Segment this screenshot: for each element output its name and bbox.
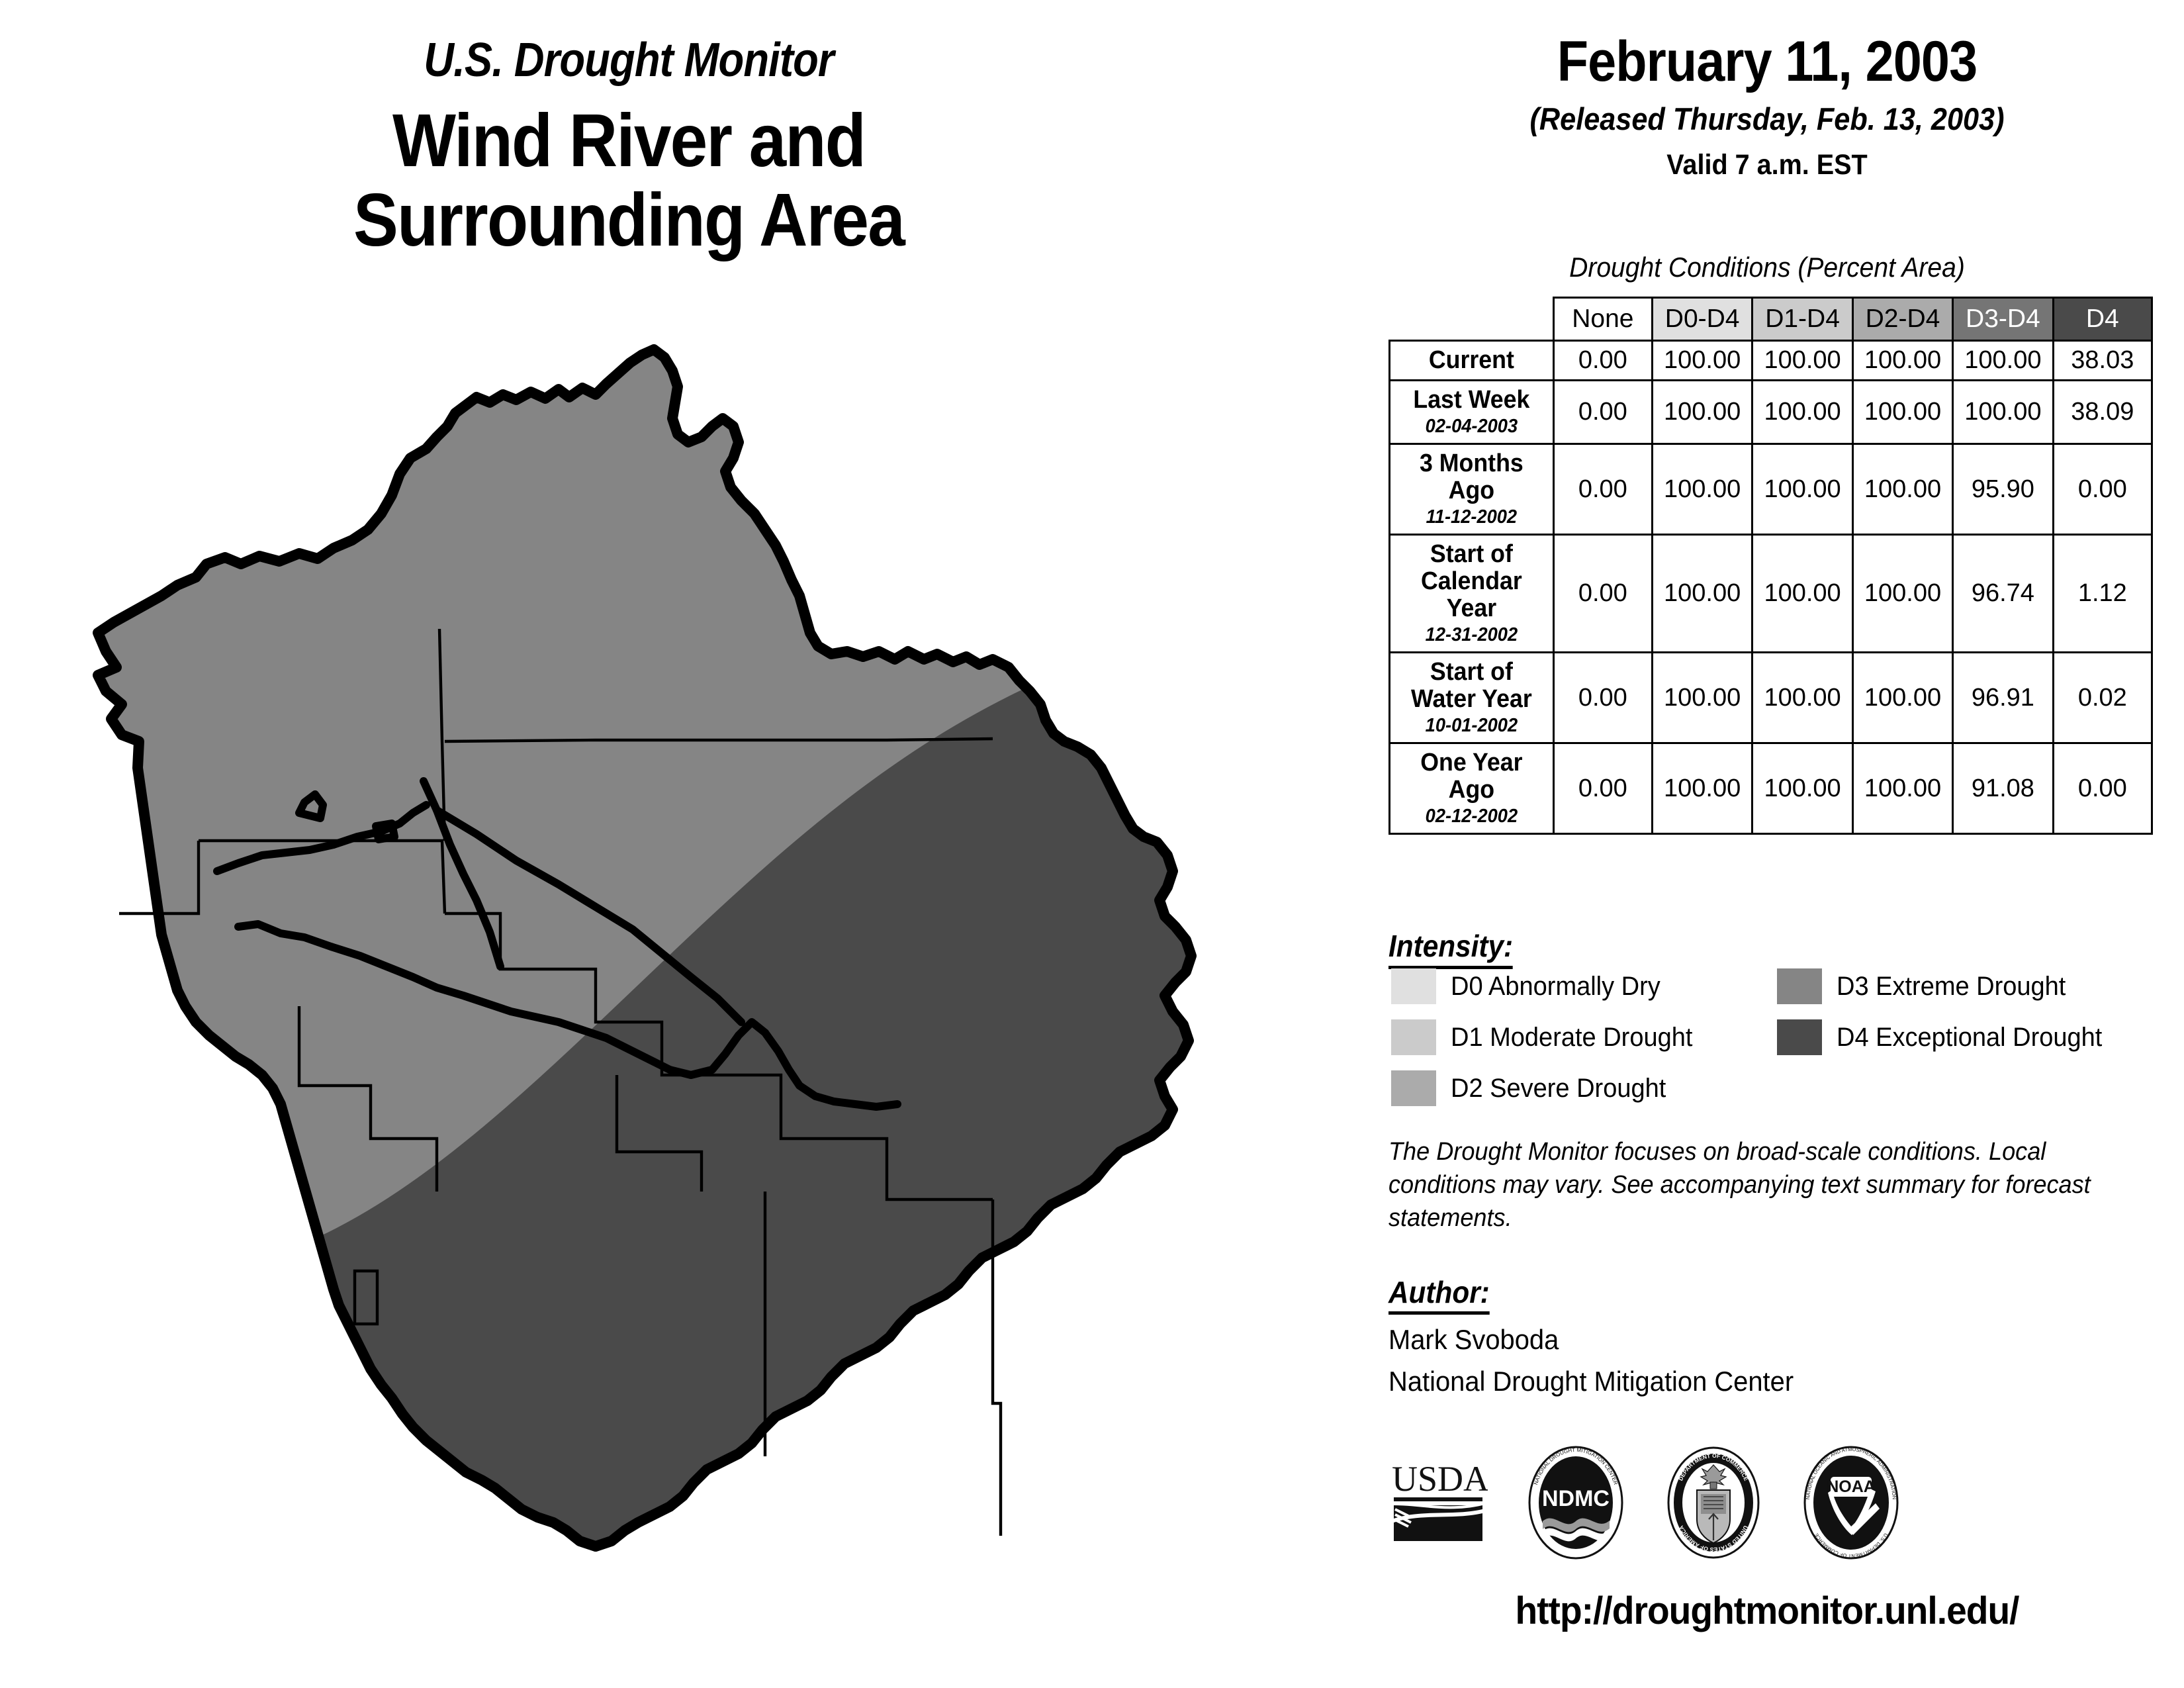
table-corner-cell (1390, 298, 1554, 341)
legend-item-d3: D3 Extreme Drought (1777, 968, 2078, 1004)
row-label: One Year Ago (1398, 749, 1545, 804)
date-block: February 11, 2003 (Released Thursday, Fe… (1350, 33, 2184, 181)
table-cell-none: 0.00 (1553, 653, 1652, 743)
table-cell-d1-d4: 100.00 (1752, 341, 1852, 381)
row-date: 10-01-2002 (1398, 715, 1545, 737)
svg-text:NDMC: NDMC (1542, 1486, 1610, 1511)
drought-map[interactable] (40, 344, 1337, 1655)
department-of-commerce-seal: DEPARTMENT OF COMMERCE UNITED STATES OF … (1664, 1445, 1763, 1561)
author-organization: National Drought Mitigation Center (1388, 1366, 1794, 1397)
legend-swatch-d1 (1391, 1019, 1436, 1055)
table-cell-d4: 0.02 (2053, 653, 2152, 743)
table-cell-d4: 0.00 (2053, 743, 2152, 834)
table-cell-d2-d4: 100.00 (1852, 341, 1952, 381)
table-cell-d1-d4: 100.00 (1752, 381, 1852, 444)
table-cell-none: 0.00 (1553, 381, 1652, 444)
svg-text:USDA: USDA (1392, 1459, 1488, 1499)
table-cell-d3-d4: 100.00 (1953, 341, 2053, 381)
valid-time: Valid 7 a.m. EST (1383, 149, 2150, 181)
table-cell-d2-d4: 100.00 (1852, 653, 1952, 743)
table-cell-d4: 38.03 (2053, 341, 2152, 381)
noaa-logo: NOAA NATIONAL OCEANIC AND ATMOSPHERIC AD… (1801, 1445, 1901, 1561)
page-title-line2: Surrounding Area (63, 181, 1195, 260)
table-cell-d2-d4: 100.00 (1852, 743, 1952, 834)
table-row: One Year Ago02-12-20020.00100.00100.0010… (1390, 743, 2152, 834)
row-date: 12-31-2002 (1398, 624, 1545, 646)
legend-item-d2: D2 Severe Drought (1391, 1070, 1677, 1106)
table-cell-d4: 38.09 (2053, 381, 2152, 444)
row-date: 11-12-2002 (1398, 506, 1545, 528)
column-header-none: None (1553, 298, 1652, 341)
disclaimer-text: The Drought Monitor focuses on broad-sca… (1388, 1135, 2118, 1235)
page-title: Wind River and Surrounding Area (63, 101, 1195, 260)
table-cell-d3-d4: 96.91 (1953, 653, 2053, 743)
legend-swatch-d4 (1777, 1019, 1822, 1055)
table-cell-d1-d4: 100.00 (1752, 743, 1852, 834)
column-header-d0-d4: D0-D4 (1652, 298, 1752, 341)
table-caption: Drought Conditions (Percent Area) (1379, 252, 2155, 283)
table-cell-d0-d4: 100.00 (1652, 743, 1752, 834)
row-date: 02-04-2003 (1398, 416, 1545, 438)
table-cell-d2-d4: 100.00 (1852, 535, 1952, 653)
legend-label-d4: D4 Exceptional Drought (1837, 1023, 2102, 1053)
column-header-d2-d4: D2-D4 (1852, 298, 1952, 341)
table-cell-d1-d4: 100.00 (1752, 444, 1852, 535)
table-row: Start ofCalendar Year12-31-20020.00100.0… (1390, 535, 2152, 653)
row-label-cell: 3 Months Ago11-12-2002 (1390, 444, 1554, 535)
row-label: Last Week (1398, 387, 1545, 414)
website-url[interactable]: http://droughtmonitor.unl.edu/ (1371, 1589, 2163, 1633)
report-date: February 11, 2003 (1392, 33, 2142, 90)
table-body: Current0.00100.00100.00100.00100.0038.03… (1390, 341, 2152, 834)
row-label: Start ofCalendar Year (1398, 541, 1545, 622)
table-cell-d1-d4: 100.00 (1752, 535, 1852, 653)
legend-label-d1: D1 Moderate Drought (1451, 1023, 1692, 1053)
right-panel: February 11, 2003 (Released Thursday, Fe… (1350, 0, 2184, 1688)
legend-label-d3: D3 Extreme Drought (1837, 972, 2066, 1002)
table-cell-d3-d4: 95.90 (1953, 444, 2053, 535)
table-cell-none: 0.00 (1553, 535, 1652, 653)
map-svg (40, 344, 1337, 1655)
row-label-cell: Start ofCalendar Year12-31-2002 (1390, 535, 1554, 653)
table-cell-d3-d4: 91.08 (1953, 743, 2053, 834)
legend-item-d1: D1 Moderate Drought (1391, 1019, 1706, 1055)
table-cell-d0-d4: 100.00 (1652, 341, 1752, 381)
legend-swatch-d0 (1391, 968, 1436, 1004)
table-cell-d2-d4: 100.00 (1852, 381, 1952, 444)
drought-conditions-table: None D0-D4 D1-D4 D2-D4 D3-D4 D4 Current0… (1388, 297, 2153, 835)
legend-label-d0: D0 Abnormally Dry (1451, 972, 1661, 1002)
ndmc-logo: NDMC NATIONAL DROUGHT MITIGATION CENTER (1526, 1445, 1625, 1561)
legend-swatch-d2 (1391, 1070, 1436, 1106)
row-label: Start ofWater Year (1398, 659, 1545, 713)
release-date: (Released Thursday, Feb. 13, 2003) (1383, 101, 2150, 137)
column-header-d3-d4: D3-D4 (1953, 298, 2053, 341)
title-block: U.S. Drought Monitor Wind River and Surr… (0, 36, 1257, 260)
table-cell-none: 0.00 (1553, 743, 1652, 834)
table-row: Current0.00100.00100.00100.00100.0038.03 (1390, 341, 2152, 381)
table-row: Last Week02-04-20030.00100.00100.00100.0… (1390, 381, 2152, 444)
table-cell-none: 0.00 (1553, 444, 1652, 535)
agency-logos: USDA NDMC NATIONAL DROUGHT MITIGATION CE… (1388, 1440, 2156, 1566)
table-header-row: None D0-D4 D1-D4 D2-D4 D3-D4 D4 (1390, 298, 2152, 341)
author-heading: Author: (1388, 1274, 1490, 1315)
table-cell-none: 0.00 (1553, 341, 1652, 381)
table-cell-d3-d4: 96.74 (1953, 535, 2053, 653)
legend-item-d0: D0 Abnormally Dry (1391, 968, 1671, 1004)
table-cell-d2-d4: 100.00 (1852, 444, 1952, 535)
row-date: 02-12-2002 (1398, 806, 1545, 827)
table-cell-d1-d4: 100.00 (1752, 653, 1852, 743)
table-cell-d0-d4: 100.00 (1652, 381, 1752, 444)
row-label: Current (1398, 347, 1545, 374)
table-cell-d0-d4: 100.00 (1652, 653, 1752, 743)
intensity-heading: Intensity: (1388, 928, 1513, 969)
table-cell-d3-d4: 100.00 (1953, 381, 2053, 444)
table-cell-d4: 0.00 (2053, 444, 2152, 535)
page-title-line1: Wind River and (63, 101, 1195, 181)
column-header-d1-d4: D1-D4 (1752, 298, 1852, 341)
table-row: Start ofWater Year10-01-20020.00100.0010… (1390, 653, 2152, 743)
row-label-cell: Last Week02-04-2003 (1390, 381, 1554, 444)
svg-text:NOAA: NOAA (1827, 1477, 1876, 1496)
legend-swatch-d3 (1777, 968, 1822, 1004)
left-panel: U.S. Drought Monitor Wind River and Surr… (0, 0, 1350, 1688)
row-label: 3 Months Ago (1398, 450, 1545, 504)
column-header-d4: D4 (2053, 298, 2152, 341)
row-label-cell: Start ofWater Year10-01-2002 (1390, 653, 1554, 743)
kicker-text: U.S. Drought Monitor (75, 36, 1182, 84)
legend-label-d2: D2 Severe Drought (1451, 1074, 1666, 1103)
table-cell-d0-d4: 100.00 (1652, 535, 1752, 653)
table-cell-d4: 1.12 (2053, 535, 2152, 653)
table-cell-d0-d4: 100.00 (1652, 444, 1752, 535)
table-row: 3 Months Ago11-12-20020.00100.00100.0010… (1390, 444, 2152, 535)
row-label-cell: One Year Ago02-12-2002 (1390, 743, 1554, 834)
author-name: Mark Svoboda (1388, 1324, 1559, 1356)
legend-item-d4: D4 Exceptional Drought (1777, 1019, 2116, 1055)
usda-logo: USDA (1388, 1456, 1488, 1549)
row-label-cell: Current (1390, 341, 1554, 381)
